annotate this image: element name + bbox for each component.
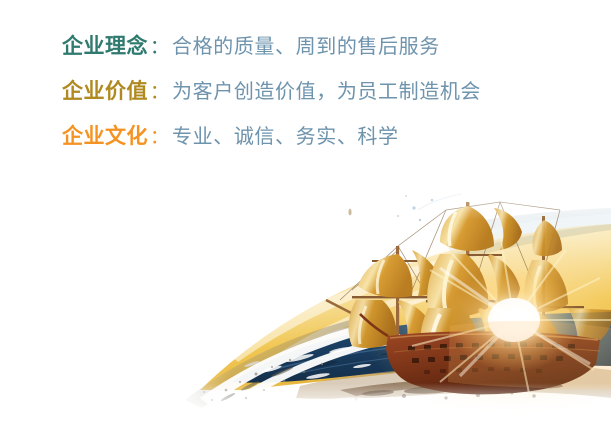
statement-body-philosophy: 合格的质量、周到的售后服务 <box>172 36 440 56</box>
statement-label-culture: 企业文化 <box>62 126 148 147</box>
statement-body-value: 为客户创造价值，为员工制造机会 <box>172 81 481 101</box>
sailing-ship-illustration <box>0 150 611 423</box>
slide-canvas: 企业理念 ： 合格的质量、周到的售后服务 企业价值 ： 为客户创造价值，为员工制… <box>0 0 611 423</box>
statement-separator-value: ： <box>148 83 172 102</box>
statement-body-culture: 专业、诚信、务实、科学 <box>172 126 399 146</box>
floating-speck <box>348 209 351 216</box>
statement-label-value: 企业价值 <box>62 81 148 102</box>
statement-separator-philosophy: ： <box>148 38 172 57</box>
statement-separator-culture: ： <box>148 128 172 147</box>
water-spray-droplets <box>397 195 433 221</box>
statement-row-value: 企业价值 ： 为客户创造价值，为员工制造机会 <box>62 81 481 126</box>
statement-row-philosophy: 企业理念 ： 合格的质量、周到的售后服务 <box>62 36 481 81</box>
statement-row-culture: 企业文化 ： 专业、诚信、务实、科学 <box>62 126 481 171</box>
statement-label-philosophy: 企业理念 <box>62 36 148 57</box>
company-statements: 企业理念 ： 合格的质量、周到的售后服务 企业价值 ： 为客户创造价值，为员工制… <box>62 36 481 171</box>
